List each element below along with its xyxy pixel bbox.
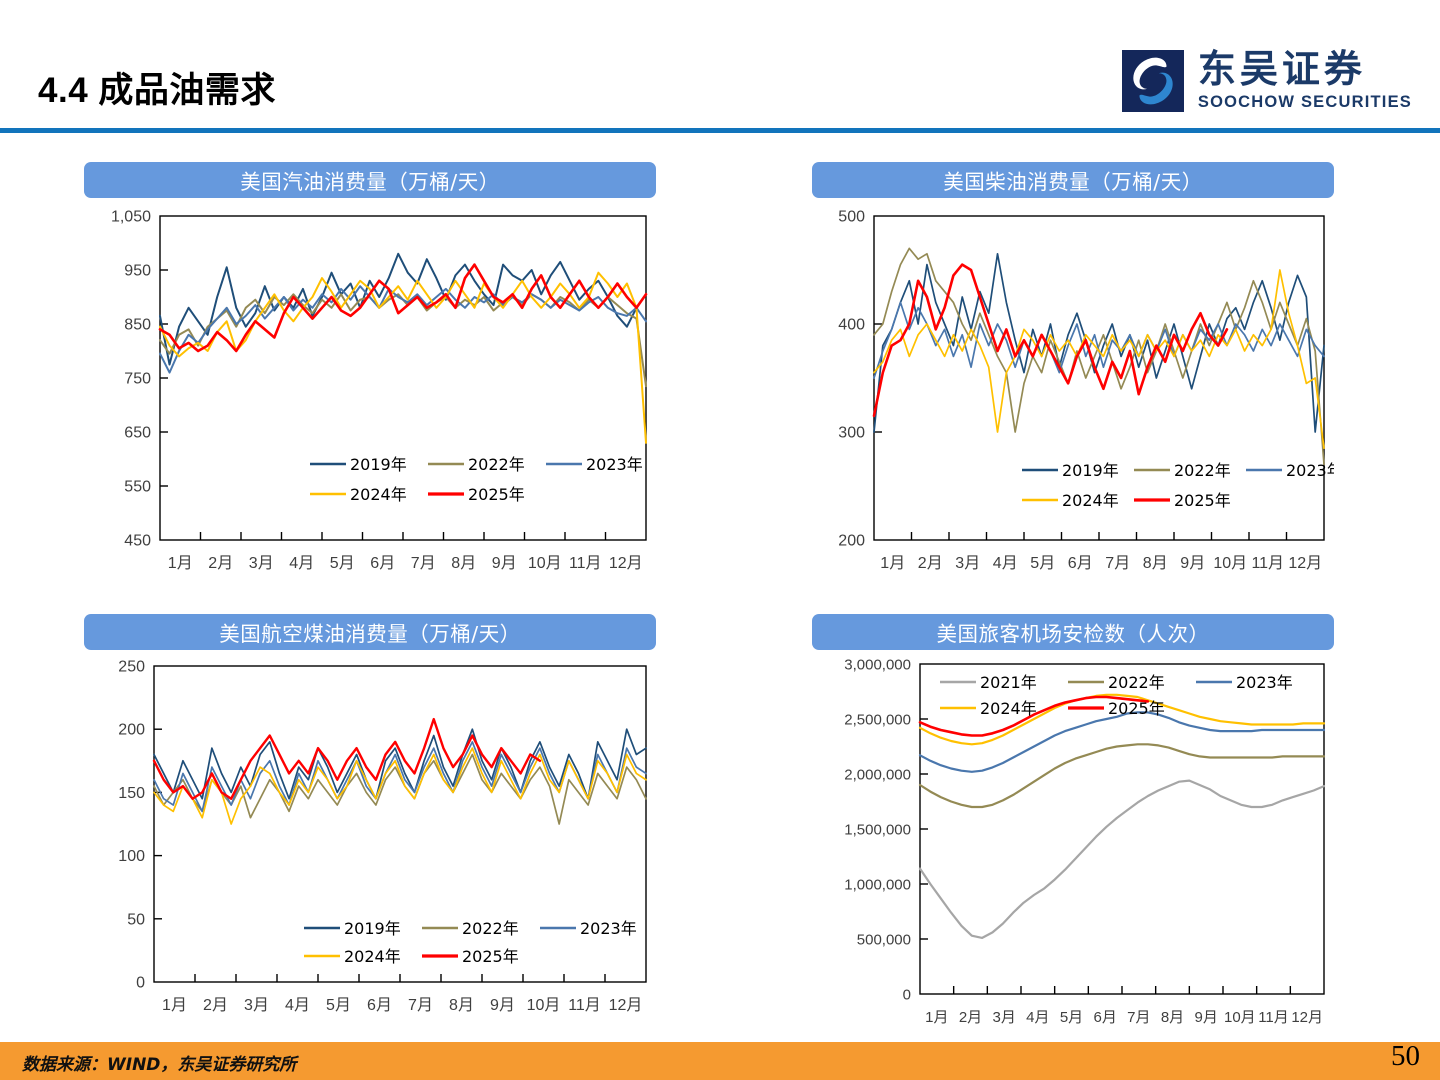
x-axis-tick-label: 8月 — [1143, 555, 1168, 572]
brand-name-en: SOOCHOW SECURITIES — [1198, 93, 1412, 112]
x-axis-tick-label: 2月 — [208, 555, 233, 572]
y-axis-tick-label: 1,050 — [111, 209, 151, 226]
brand-text: 东吴证券 SOOCHOW SECURITIES — [1198, 50, 1412, 112]
y-axis-tick-label: 500,000 — [857, 932, 911, 949]
x-axis-tick-label: 6月 — [367, 997, 392, 1014]
legend-label-2024年: 2024年 — [344, 947, 401, 966]
legend-label-2022年: 2022年 — [462, 919, 519, 938]
x-axis-tick-label: 3月 — [244, 997, 269, 1014]
legend-label-2022年: 2022年 — [1174, 461, 1231, 480]
x-axis-tick-label: 11月 — [1251, 555, 1284, 572]
x-axis-tick-label: 12月 — [1288, 555, 1322, 572]
series-line-2019年 — [154, 729, 646, 799]
series-group — [160, 254, 646, 443]
x-axis-tick-label: 9月 — [490, 997, 515, 1014]
series-group — [154, 719, 646, 824]
chart-plot-tsa-throughput: 0500,0001,000,0001,500,0002,000,0002,500… — [812, 650, 1334, 1050]
x-axis-tick-label: 4月 — [1026, 1009, 1049, 1026]
legend-label-2024年: 2024年 — [350, 485, 407, 504]
x-axis-tick-label: 9月 — [1194, 1009, 1217, 1026]
x-axis-tick-label: 1月 — [880, 555, 905, 572]
x-axis-tick-label: 12月 — [609, 997, 643, 1014]
chart-card-jet-fuel: 美国航空煤油消费量（万桶/天） 0501001502002501月2月3月4月5… — [84, 614, 656, 1040]
x-axis-tick-label: 10月 — [527, 997, 561, 1014]
chart-title-gasoline: 美国汽油消费量（万桶/天） — [84, 162, 656, 198]
y-axis-tick-label: 0 — [903, 987, 911, 1004]
series-line-2023年 — [920, 712, 1324, 771]
x-axis-tick-label: 12月 — [609, 555, 643, 572]
series-line-2022年 — [920, 744, 1324, 807]
x-axis-tick-label: 6月 — [1068, 555, 1093, 572]
y-axis-tick-label: 300 — [838, 425, 865, 442]
x-axis-tick-label: 4月 — [285, 997, 310, 1014]
chart-title-tsa-throughput: 美国旅客机场安检数（人次） — [812, 614, 1334, 650]
legend-label-2025年: 2025年 — [1108, 699, 1165, 718]
legend-label-2025年: 2025年 — [1174, 491, 1231, 510]
x-axis-tick-label: 6月 — [370, 555, 395, 572]
legend-label-2019年: 2019年 — [344, 919, 401, 938]
series-line-2021年 — [920, 781, 1324, 938]
y-axis-tick-label: 2,000,000 — [844, 767, 911, 784]
chart-title-jet-fuel: 美国航空煤油消费量（万桶/天） — [84, 614, 656, 650]
y-axis-tick-label: 750 — [124, 371, 151, 388]
legend-label-2022年: 2022年 — [468, 455, 525, 474]
y-axis-tick-label: 0 — [136, 975, 145, 992]
footer-source-text: 数据来源：WIND，东吴证券研究所 — [22, 1050, 296, 1075]
legend-label-2023年: 2023年 — [580, 919, 637, 938]
x-axis-tick-label: 9月 — [492, 555, 517, 572]
x-axis-tick-label: 4月 — [289, 555, 314, 572]
x-axis-tick-label: 2月 — [959, 1009, 982, 1026]
x-axis-tick-label: 8月 — [449, 997, 474, 1014]
x-axis-tick-label: 1月 — [925, 1009, 948, 1026]
chart-plot-jet-fuel: 0501001502002501月2月3月4月5月6月7月8月9月10月11月1… — [84, 650, 656, 1040]
chart-legend: 2019年2022年2023年2024年2025年 — [310, 455, 643, 504]
y-axis-tick-label: 250 — [118, 659, 145, 676]
legend-label-2024年: 2024年 — [1062, 491, 1119, 510]
y-axis-tick-label: 500 — [838, 209, 865, 226]
y-axis-tick-label: 200 — [118, 722, 145, 739]
x-axis-tick-label: 3月 — [955, 555, 980, 572]
chart-legend: 2019年2022年2023年2024年2025年 — [1022, 461, 1334, 510]
x-axis-tick-label: 7月 — [1105, 555, 1130, 572]
y-axis-tick-label: 1,000,000 — [844, 877, 911, 894]
x-axis-tick-label: 1月 — [168, 555, 193, 572]
series-group — [874, 248, 1324, 464]
x-axis-tick-label: 8月 — [1161, 1009, 1184, 1026]
x-axis-tick-label: 5月 — [1060, 1009, 1083, 1026]
x-axis-tick-label: 8月 — [451, 555, 476, 572]
brand-logo: 东吴证券 SOOCHOW SECURITIES — [1122, 50, 1412, 112]
y-axis-tick-label: 200 — [838, 533, 865, 550]
soochow-logo-icon — [1122, 50, 1184, 112]
legend-label-2023年: 2023年 — [1236, 673, 1293, 692]
brand-name-cn: 东吴证券 — [1198, 50, 1412, 88]
slide-header: 4.4 成品油需求 东吴证券 SOOCHOW SECURITIES — [0, 0, 1440, 133]
x-axis-tick-label: 4月 — [993, 555, 1018, 572]
x-axis-tick-label: 3月 — [992, 1009, 1015, 1026]
x-axis-tick-label: 11月 — [568, 997, 601, 1014]
x-axis-tick-label: 7月 — [1127, 1009, 1150, 1026]
y-axis-tick-label: 150 — [118, 785, 145, 802]
y-axis-tick-label: 1,500,000 — [844, 822, 911, 839]
page-number: 50 — [1391, 1040, 1420, 1073]
x-axis-tick-label: 2月 — [203, 997, 228, 1014]
legend-label-2025年: 2025年 — [468, 485, 525, 504]
x-axis-tick-label: 1月 — [162, 997, 187, 1014]
x-axis-tick-label: 7月 — [408, 997, 433, 1014]
chart-card-tsa-throughput: 美国旅客机场安检数（人次） 0500,0001,000,0001,500,000… — [812, 614, 1334, 1050]
legend-label-2023年: 2023年 — [1286, 461, 1334, 480]
x-axis-tick-label: 5月 — [326, 997, 351, 1014]
x-axis-tick-label: 11月 — [1258, 1009, 1289, 1026]
chart-plot-diesel: 2003004005001月2月3月4月5月6月7月8月9月10月11月12月2… — [812, 198, 1334, 598]
y-axis-tick-label: 950 — [124, 263, 151, 280]
legend-label-2025年: 2025年 — [462, 947, 519, 966]
x-axis-tick-label: 10月 — [1224, 1009, 1256, 1026]
legend-label-2023年: 2023年 — [586, 455, 643, 474]
y-axis-tick-label: 3,000,000 — [844, 657, 911, 674]
chart-card-diesel: 美国柴油消费量（万桶/天） 2003004005001月2月3月4月5月6月7月… — [812, 162, 1334, 598]
x-axis-tick-label: 3月 — [249, 555, 274, 572]
y-axis-tick-label: 2,500,000 — [844, 712, 911, 729]
x-axis-tick-label: 6月 — [1093, 1009, 1116, 1026]
legend-label-2022年: 2022年 — [1108, 673, 1165, 692]
y-axis-tick-label: 450 — [124, 533, 151, 550]
y-axis-tick-label: 550 — [124, 479, 151, 496]
legend-label-2019年: 2019年 — [350, 455, 407, 474]
chart-title-diesel: 美国柴油消费量（万桶/天） — [812, 162, 1334, 198]
x-axis-tick-label: 9月 — [1180, 555, 1205, 572]
series-group — [920, 695, 1324, 938]
legend-label-2021年: 2021年 — [980, 673, 1037, 692]
y-axis-tick-label: 400 — [838, 317, 865, 334]
y-axis-tick-label: 650 — [124, 425, 151, 442]
chart-card-gasoline: 美国汽油消费量（万桶/天） 4505506507508509501,0501月2… — [84, 162, 656, 598]
x-axis-tick-label: 10月 — [528, 555, 562, 572]
chart-plot-gasoline: 4505506507508509501,0501月2月3月4月5月6月7月8月9… — [84, 198, 656, 598]
legend-label-2019年: 2019年 — [1062, 461, 1119, 480]
x-axis-tick-label: 10月 — [1213, 555, 1247, 572]
x-axis-tick-label: 2月 — [918, 555, 943, 572]
y-axis-tick-label: 100 — [118, 848, 145, 865]
y-axis-tick-label: 850 — [124, 317, 151, 334]
x-axis-tick-label: 7月 — [411, 555, 436, 572]
legend-label-2024年: 2024年 — [980, 699, 1037, 718]
x-axis-tick-label: 5月 — [330, 555, 355, 572]
x-axis-tick-label: 5月 — [1030, 555, 1055, 572]
y-axis-tick-label: 50 — [127, 911, 145, 928]
page-title: 4.4 成品油需求 — [38, 62, 276, 113]
x-axis-tick-label: 11月 — [569, 555, 602, 572]
header-divider — [0, 128, 1440, 133]
x-axis-tick-label: 12月 — [1291, 1009, 1323, 1026]
chart-legend: 2019年2022年2023年2024年2025年 — [304, 919, 637, 966]
